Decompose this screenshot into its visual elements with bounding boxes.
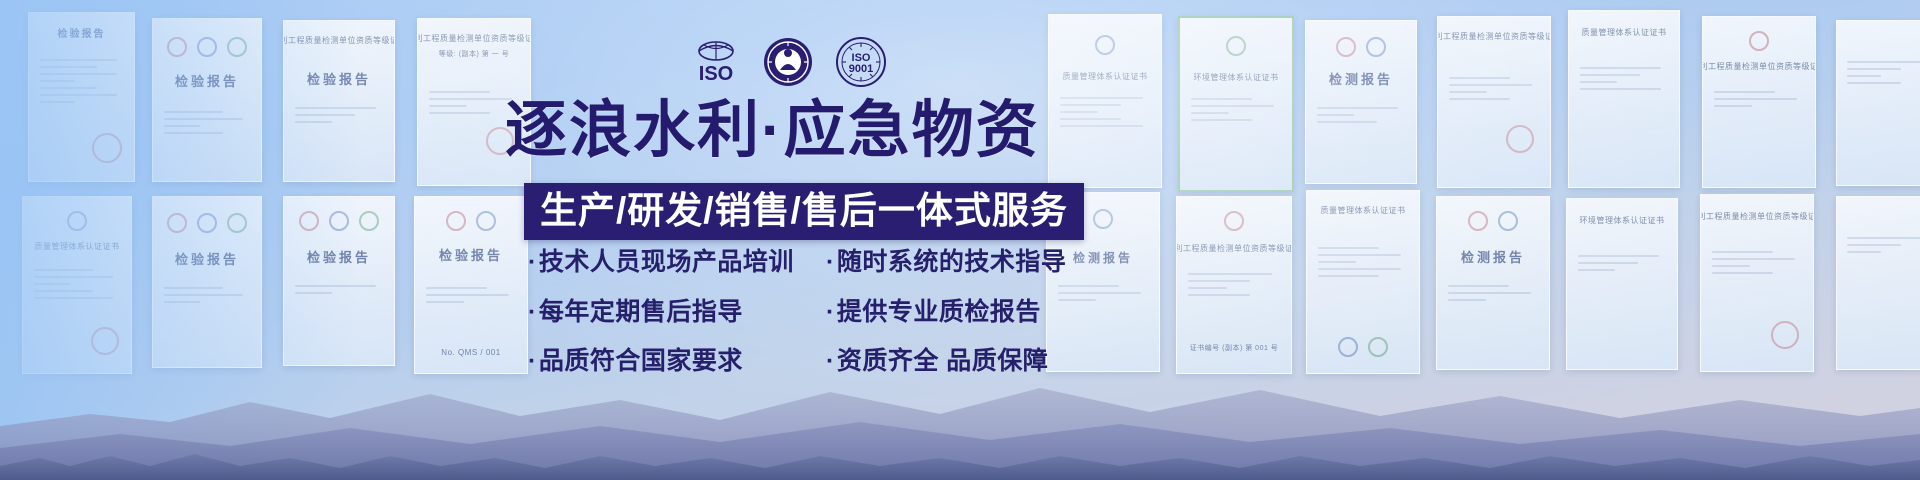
feature-item: ·每年定期售后指导	[528, 298, 808, 328]
certificate-title: 检验报告	[415, 245, 527, 264]
cert-logo-icon	[299, 211, 319, 231]
certificate-title: 水利工程质量检测单位资质等级证书	[283, 35, 395, 46]
cert-logo-icon	[167, 37, 187, 57]
cert-logo-icon	[197, 213, 217, 233]
subtitle-bar: 生产/研发/销售/售后一体式服务	[524, 183, 1084, 240]
certificate-title: 检验报告	[284, 247, 394, 266]
cert-logo-icon	[1749, 31, 1769, 51]
cert-logo-icon	[1498, 211, 1518, 231]
cert-logo-icon	[167, 213, 187, 233]
bullet-icon: ·	[528, 347, 537, 375]
feature-item: ·资质齐全 品质保障	[826, 347, 1076, 377]
promo-banner: 检验报告 检验报告 水利工程质量检测单位资质等级证书 检验报告	[0, 0, 1920, 480]
certificate-seal	[1506, 125, 1534, 153]
certificate-title: 检验报告	[153, 249, 261, 268]
feature-label: 每年定期售后指导	[539, 298, 743, 326]
certificate-card: 质量管理体系认证证书	[1568, 10, 1680, 188]
certificate-title: 水利工程质量检测单位资质等级证书	[417, 33, 531, 44]
cert-logo-icon	[227, 37, 247, 57]
cert-logo-icon	[446, 211, 466, 231]
cert-logo-icon	[1336, 37, 1356, 57]
certificate-card: 水利工程质量检测单位资质等级证书	[1702, 16, 1816, 188]
cert-logo-icon	[1226, 36, 1246, 56]
feature-item: ·提供专业质检报告	[826, 298, 1076, 328]
iso-9001-badge: ISO 9001	[835, 36, 887, 88]
bullet-icon: ·	[826, 248, 835, 276]
certificate-title: 检验报告	[284, 69, 394, 88]
certificate-title: 质量管理体系认证证书	[35, 241, 120, 252]
page-title: 逐浪水利·应急物资	[505, 100, 1040, 162]
certificate-card: 水利工程质量检测单位资质等级证书 检验报告	[283, 20, 395, 182]
cert-logo-icon	[1093, 209, 1113, 229]
certificate-card: 检验报告	[152, 18, 262, 182]
certification-badges: ISO ISO 900	[690, 36, 890, 88]
certificate-title: 水利工程质量检测单位资质等级证书	[1700, 211, 1814, 222]
certificate-card	[1836, 20, 1920, 186]
cert-logo-icon	[1224, 211, 1244, 231]
cert-logo-icon	[227, 213, 247, 233]
feature-label: 技术人员现场产品培训	[539, 248, 794, 276]
certificate-card: 环境管理体系认证证书	[1178, 16, 1294, 192]
certificate-title: 质量管理体系认证证书	[1582, 27, 1667, 38]
bullet-icon: ·	[528, 298, 537, 326]
certificate-title: 水利工程质量检测单位资质等级证书	[1437, 31, 1551, 42]
feature-label: 提供专业质检报告	[837, 298, 1041, 326]
circular-seal-badge	[762, 36, 814, 88]
feature-label: 资质齐全 品质保障	[837, 347, 1048, 375]
bullet-icon: ·	[528, 248, 537, 276]
certificate-title: 检验报告	[153, 71, 261, 90]
bullet-icon: ·	[826, 298, 835, 326]
cert-logo-icon	[359, 211, 379, 231]
certificate-title: 质量管理体系认证证书	[1321, 205, 1406, 216]
iso-badge-label: ISO	[699, 63, 733, 85]
cert-logo-icon	[476, 211, 496, 231]
certificate-subtitle: 等级: (副本) 第 一 号	[439, 49, 509, 59]
feature-item: ·技术人员现场产品培训	[528, 248, 808, 278]
certificate-title: 环境管理体系认证证书	[1580, 215, 1665, 226]
cert-logo-icon	[1366, 37, 1386, 57]
cert-logo-icon	[1095, 35, 1115, 55]
iso-9001-line2: 9001	[849, 63, 873, 75]
feature-list: ·技术人员现场产品培训 ·随时系统的技术指导 ·每年定期售后指导 ·提供专业质检…	[528, 248, 1076, 377]
certificate-title: 水利工程质量检测单位资质等级证书	[1702, 61, 1816, 72]
certificate-seal	[92, 133, 122, 163]
certificate-title: 水利工程质量检测单位资质等级证书	[1176, 243, 1292, 254]
feature-item: ·品质符合国家要求	[528, 347, 808, 377]
iso-globe-badge: ISO	[690, 36, 742, 88]
certificate-title: 检测报告	[1306, 69, 1416, 88]
feature-label: 随时系统的技术指导	[837, 248, 1067, 276]
certificate-card: 水利工程质量检测单位资质等级证书	[1437, 16, 1551, 188]
cert-logo-icon	[67, 211, 87, 231]
cert-logo-icon	[329, 211, 349, 231]
certificate-title: 环境管理体系认证证书	[1194, 72, 1279, 83]
certificate-card: 检测报告	[1305, 20, 1417, 184]
feature-item: ·随时系统的技术指导	[826, 248, 1076, 278]
bullet-icon: ·	[826, 347, 835, 375]
cert-logo-icon	[1468, 211, 1488, 231]
feature-label: 品质符合国家要求	[539, 347, 743, 375]
certificate-card: 质量管理体系认证证书	[1048, 14, 1162, 188]
certificate-title: 检测报告	[1437, 247, 1549, 266]
cert-logo-icon	[197, 37, 217, 57]
certificate-title: 检验报告	[29, 25, 134, 40]
certificate-card: 检验报告	[28, 12, 135, 182]
certificate-title: 质量管理体系认证证书	[1063, 71, 1148, 82]
